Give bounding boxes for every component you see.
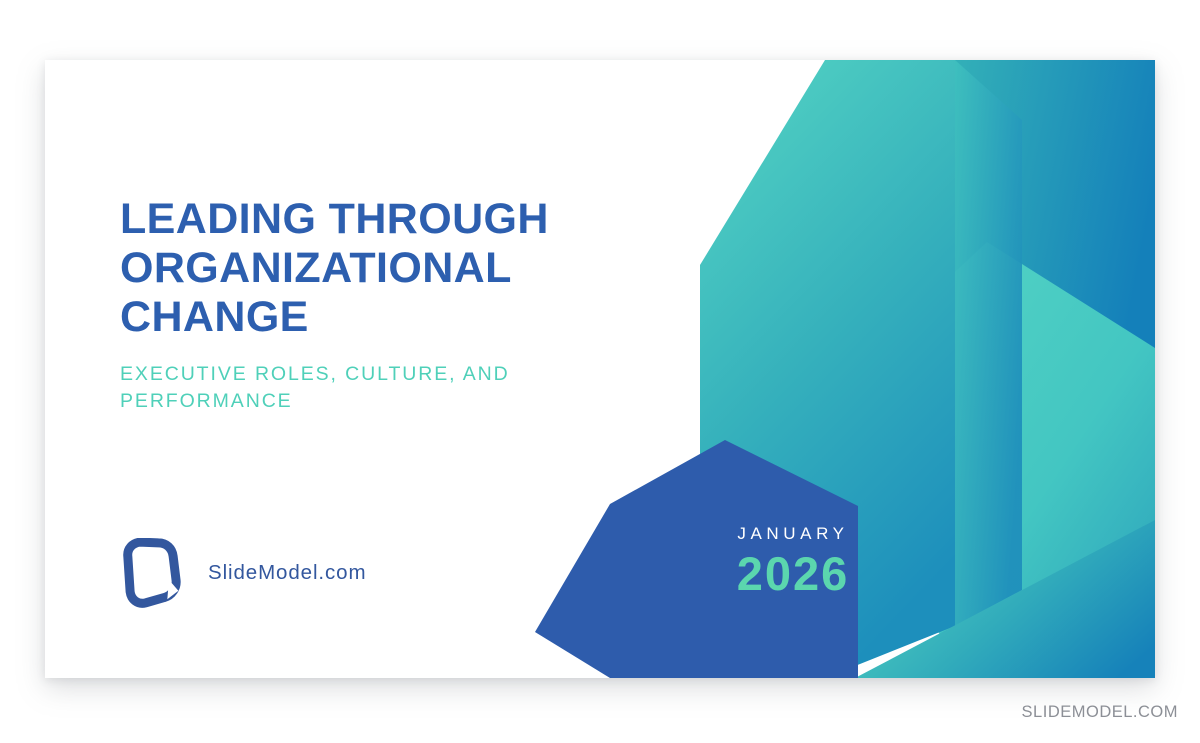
presentation-slide: JANUARY 2026 LEADING THROUGH ORGANIZATIO… <box>45 60 1155 678</box>
slidemodel-ring-logo-icon <box>120 538 182 608</box>
slidemodel-watermark: SLIDEMODEL.COM <box>1022 703 1178 722</box>
screenshot-stage: JANUARY 2026 LEADING THROUGH ORGANIZATIO… <box>0 0 1200 743</box>
page-subtitle: EXECUTIVE ROLES, CULTURE, AND PERFORMANC… <box>120 361 630 416</box>
page-title: LEADING THROUGH ORGANIZATIONAL CHANGE <box>120 195 630 343</box>
title-block: LEADING THROUGH ORGANIZATIONAL CHANGE EX… <box>120 195 630 416</box>
brand-lockup: SlideModel.com <box>120 538 366 608</box>
hexagon-shape-center-right-face <box>955 60 1022 626</box>
brand-name-label: SlideModel.com <box>208 561 366 585</box>
